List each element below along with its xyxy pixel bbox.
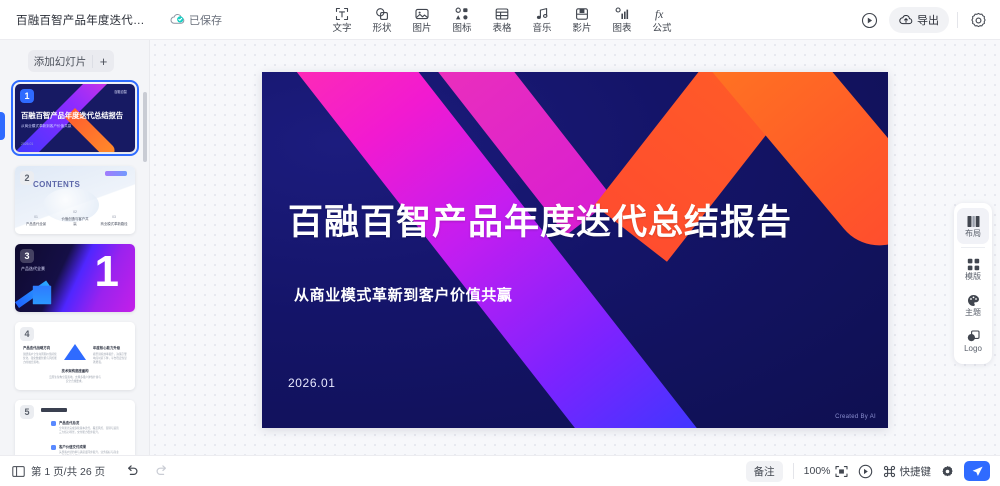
- active-slide[interactable]: 百融百智产品年度迭代总结报告 从商业模式革新到客户价值共赢 2026.01 Cr…: [262, 72, 888, 428]
- top-toolbar: 百融百智产品年度迭代总结... 已保存 文字: [0, 0, 1000, 40]
- tool-music-label: 音乐: [532, 24, 551, 34]
- slide-thumbnail-4[interactable]: 产品迭代战略方向 围绕客户全生命周期价值持续优化，强化数据智能与风控能力的融合落…: [15, 322, 135, 390]
- tool-formula[interactable]: fx 公式: [642, 0, 682, 40]
- sidebar-scrollbar[interactable]: [143, 92, 147, 162]
- thumb-col: 01 产品迭代全景: [21, 215, 51, 226]
- slide-thumbnail-list[interactable]: 百融百智 百融百智产品年度迭代总结报告 从商业模式革新到客户价值共赢 2026.…: [0, 80, 150, 455]
- tool-icon-library-label: 图标: [452, 24, 471, 34]
- sidebar-collapse-handle[interactable]: [0, 112, 5, 140]
- add-slide-plus-icon[interactable]: +: [92, 55, 114, 68]
- thumb-block: 技术架构底座重构 云原生架构全面落地，支撑多租户弹性扩容与安全合规要求。: [49, 369, 101, 384]
- thumb-col-text: 商业模式革新路径: [99, 221, 129, 226]
- tool-music[interactable]: 音乐: [522, 0, 562, 40]
- fit-screen-icon[interactable]: [835, 465, 848, 478]
- logo-icon: [967, 330, 980, 343]
- thumb-block-body: 围绕客户全生命周期价值持续优化，强化数据智能与风控能力的融合落地。: [23, 353, 57, 365]
- thumb-date: 2026.01: [21, 142, 33, 146]
- thumb-block-body: 模型训练效率提升，决策引擎响应时延下降，平台稳定性显著增强。: [93, 353, 127, 365]
- present-button[interactable]: [858, 464, 873, 479]
- thumb-section-label: 产品迭代全景: [21, 266, 45, 272]
- palette-icon: [967, 294, 980, 307]
- list-item[interactable]: 百融百智 百融百智产品年度迭代总结报告 从商业模式革新到客户价值共赢 2026.…: [15, 84, 135, 152]
- thumb-row-head: 客户价值交付成果: [59, 444, 121, 449]
- dock-item-layout[interactable]: 布局: [957, 208, 989, 244]
- dock-item-theme-label: 主题: [965, 309, 981, 317]
- slide-thumbnail-1[interactable]: 百融百智 百融百智产品年度迭代总结报告 从商业模式革新到客户价值共赢 2026.…: [15, 84, 135, 152]
- tool-text[interactable]: 文字: [322, 0, 362, 40]
- slide-number-badge: 5: [20, 405, 34, 419]
- right-dock: 布局 模版: [954, 203, 992, 364]
- tool-formula-label: 公式: [652, 24, 671, 34]
- list-item[interactable]: 产品迭代全景 1 3: [15, 244, 135, 312]
- tool-icon-library[interactable]: 图标: [442, 0, 482, 40]
- thumb-contents-label: CONTENTS: [33, 180, 80, 189]
- play-circle-icon: [861, 12, 878, 29]
- thumb-title: 百融百智产品年度迭代总结报告: [21, 110, 129, 121]
- slide-number-badge: 2: [20, 171, 34, 185]
- tool-video-label: 影片: [572, 24, 591, 34]
- thumb-block: 年度核心能力升级 模型训练效率提升，决策引擎响应时延下降，平台稳定性显著增强。: [93, 346, 127, 365]
- insert-tools: 文字 形状 图片: [322, 0, 682, 40]
- slide-thumbnail-3[interactable]: 产品迭代全景 1 3: [15, 244, 135, 312]
- icon-library-icon: [455, 7, 469, 22]
- redo-button[interactable]: [155, 464, 169, 478]
- bottom-statusbar: 第 1 页/共 26 页 备注 100%: [0, 455, 1000, 486]
- thumb-col-text: 价值创造与客户共赢: [60, 216, 90, 226]
- dock-item-template-label: 模版: [965, 273, 981, 281]
- export-button[interactable]: 导出: [889, 7, 949, 33]
- thumb-row-head: 产品迭代总览: [59, 420, 121, 425]
- bottom-divider: [793, 463, 794, 479]
- bottom-left-group: 第 1 页/共 26 页: [12, 464, 169, 479]
- add-slide-button[interactable]: 添加幻灯片 +: [28, 50, 114, 72]
- slide-number-badge: 4: [20, 327, 34, 341]
- settings-button[interactable]: [966, 8, 990, 32]
- dock-item-theme[interactable]: 主题: [957, 287, 989, 323]
- slide-date[interactable]: 2026.01: [288, 376, 336, 390]
- table-icon: [495, 7, 509, 22]
- toolbar-divider: [957, 12, 958, 28]
- bottom-right-group: 备注 100%: [746, 461, 990, 482]
- thumb-logo-bar: [105, 171, 127, 176]
- redo-icon: [155, 464, 169, 478]
- page-panel-icon[interactable]: [12, 465, 25, 478]
- send-icon: [971, 465, 984, 478]
- thumb-block-head: 技术架构底座重构: [49, 369, 101, 374]
- thumb-big-number: 1: [95, 250, 119, 294]
- slide-title[interactable]: 百融百智产品年度迭代总结报告: [288, 194, 792, 245]
- slide-thumbnail-2[interactable]: CONTENTS 01 产品迭代全景 02 价值创造与客户共赢 03 商业模式革…: [15, 166, 135, 234]
- gear-icon: [970, 12, 987, 29]
- layout-icon: [967, 215, 980, 228]
- slide-subtitle[interactable]: 从商业模式革新到客户价值共赢: [294, 284, 512, 305]
- gear-icon: [941, 465, 954, 478]
- thumb-bullet-icon: [51, 445, 56, 450]
- thumb-col: 03 商业模式革新路径: [99, 215, 129, 226]
- thumb-col: 02 价值创造与客户共赢: [60, 210, 90, 226]
- thumb-subtitle: 从商业模式革新到客户价值共赢: [21, 124, 71, 129]
- image-icon: [415, 7, 429, 22]
- thumb-row-body: 全年累计完成多轮版本迭代，覆盖风控、营销与运营三大核心场景，交付能力稳步提升。: [59, 427, 121, 435]
- tool-image[interactable]: 图片: [402, 0, 442, 40]
- thumb-row: 产品迭代总览 全年累计完成多轮版本迭代，覆盖风控、营销与运营三大核心场景，交付能…: [59, 420, 121, 435]
- undo-icon: [125, 464, 139, 478]
- text-icon: [335, 7, 349, 22]
- tool-video[interactable]: 影片: [562, 0, 602, 40]
- thumb-row: 客户价值交付成果 头部客户续约率与满意度同步提升，业务指标与商业价值实现双向增长…: [59, 444, 121, 455]
- undo-button[interactable]: [125, 464, 139, 478]
- thumb-block: 产品迭代战略方向 围绕客户全生命周期价值持续优化，强化数据智能与风控能力的融合落…: [23, 346, 57, 365]
- tool-shape-label: 形状: [372, 24, 391, 34]
- cloud-upload-icon: [899, 14, 913, 26]
- thumb-bullet-icon: [51, 421, 56, 426]
- slide-number-badge: 1: [20, 89, 34, 103]
- presentation-editor: 百融百智产品年度迭代总结... 已保存 文字: [0, 0, 1000, 486]
- slide-credit: Created By AI: [835, 414, 876, 420]
- send-button[interactable]: [964, 461, 990, 481]
- dock-item-template[interactable]: 模版: [957, 251, 989, 287]
- thumb-col-num: 02: [60, 210, 90, 214]
- list-item[interactable]: CONTENTS 01 产品迭代全景 02 价值创造与客户共赢 03 商业模式革…: [15, 166, 135, 234]
- play-circle-icon: [858, 464, 873, 479]
- dock-divider: [961, 247, 985, 248]
- tool-table[interactable]: 表格: [482, 0, 522, 40]
- dock-item-logo-label: Logo: [964, 345, 982, 353]
- tool-table-label: 表格: [492, 24, 511, 34]
- top-right-actions: 导出: [857, 0, 990, 40]
- dock-item-layout-label: 布局: [965, 230, 981, 238]
- music-icon: [535, 7, 549, 22]
- thumb-block-head: 产品迭代战略方向: [23, 346, 57, 351]
- shortcuts-label: 快捷键: [900, 464, 932, 479]
- notes-button[interactable]: 备注: [746, 461, 783, 482]
- tool-text-label: 文字: [332, 24, 351, 34]
- chart-icon: [615, 7, 629, 22]
- thumb-block-body: 云原生架构全面落地，支撑多租户弹性扩容与安全合规要求。: [49, 376, 101, 384]
- zoom-level-label: 100%: [804, 465, 831, 477]
- formula-icon: fx: [654, 7, 670, 22]
- list-item[interactable]: 产品迭代总览 全年累计完成多轮版本迭代，覆盖风控、营销与运营三大核心场景，交付能…: [15, 400, 135, 455]
- slide-thumbnail-5[interactable]: 产品迭代总览 全年累计完成多轮版本迭代，覆盖风控、营销与运营三大核心场景，交付能…: [15, 400, 135, 455]
- zoom-control[interactable]: 100%: [804, 465, 848, 478]
- tool-image-label: 图片: [412, 24, 431, 34]
- slide-canvas[interactable]: 百融百智产品年度迭代总结报告 从商业模式革新到客户价值共赢 2026.01 Cr…: [150, 40, 1000, 455]
- document-title[interactable]: 百融百智产品年度迭代总结...: [16, 12, 156, 28]
- save-status: 已保存: [170, 12, 222, 28]
- tool-shape[interactable]: 形状: [362, 0, 402, 40]
- thumb-block-head: 年度核心能力升级: [93, 346, 127, 351]
- thumb-title-bar: [41, 408, 67, 412]
- page-indicator: 第 1 页/共 26 页: [31, 464, 105, 479]
- thumb-col-num: 03: [99, 215, 129, 219]
- template-icon: [967, 258, 980, 271]
- save-status-label: 已保存: [189, 12, 222, 28]
- shape-icon: [375, 7, 389, 22]
- dock-item-logo[interactable]: Logo: [957, 323, 989, 359]
- slides-sidebar: 添加幻灯片 + 百融百智 百融百智产品年度迭代总结报告 从商业模式革新到客户价值…: [0, 40, 150, 455]
- thumb-col-text: 产品迭代全景: [21, 221, 51, 226]
- video-icon: [575, 7, 589, 22]
- list-item[interactable]: 产品迭代战略方向 围绕客户全生命周期价值持续优化，强化数据智能与风控能力的融合落…: [15, 322, 135, 390]
- svg-text:fx: fx: [655, 9, 664, 21]
- shortcuts-button[interactable]: 快捷键: [883, 464, 932, 479]
- tool-chart-label: 图表: [612, 24, 631, 34]
- command-icon: [883, 465, 896, 478]
- export-label: 导出: [917, 12, 939, 28]
- cloud-check-icon: [170, 13, 185, 26]
- thumb-logo: 百融百智: [114, 89, 127, 94]
- thumb-col-num: 01: [21, 215, 51, 219]
- bottom-settings-button[interactable]: [941, 465, 954, 478]
- slide-number-badge: 3: [20, 249, 34, 263]
- tool-chart[interactable]: 图表: [602, 0, 642, 40]
- add-slide-label: 添加幻灯片: [28, 54, 92, 69]
- thumb-triangle: [64, 344, 86, 360]
- preview-play-button[interactable]: [857, 8, 881, 32]
